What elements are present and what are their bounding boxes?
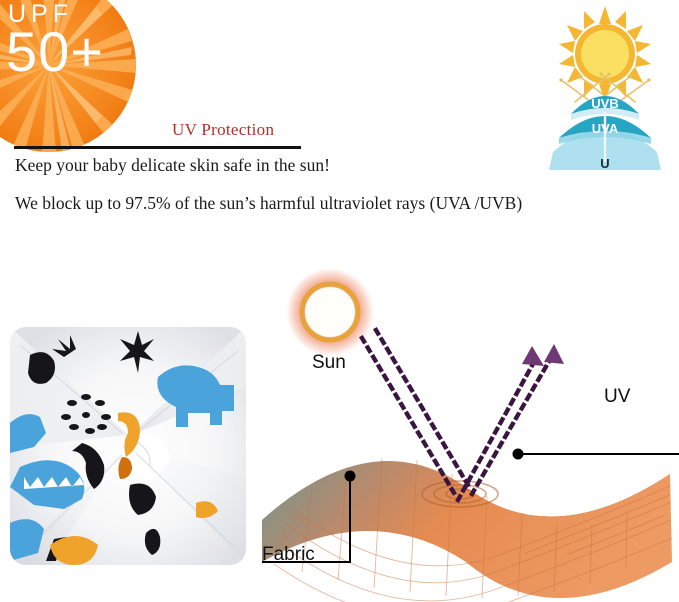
- upf-badge: UPF 50+: [0, 0, 136, 152]
- promo-banner: UPF 50+: [0, 0, 679, 602]
- fabric-photo: [10, 327, 246, 565]
- uv-anchor-dot: [513, 449, 524, 460]
- fabric-anchor-dot: [345, 471, 356, 482]
- uv-reflection-diagram: [252, 262, 679, 602]
- fabric-label: Fabric: [262, 544, 315, 566]
- page-title: UV Protection: [172, 120, 274, 140]
- upf-value: 50+: [6, 24, 104, 80]
- title-divider: [14, 146, 301, 149]
- sun-label: Sun: [312, 352, 346, 374]
- body-line-2: We block up to 97.5% of the sun’s harmfu…: [15, 193, 522, 214]
- uv-leader: [513, 449, 679, 460]
- sun-ring-icon: [286, 268, 374, 356]
- body-line-1: Keep your baby delicate skin safe in the…: [15, 155, 330, 176]
- uv-layer-3-label: U: [600, 156, 609, 170]
- uv-layers-figure: UVB UVA U: [531, 2, 679, 170]
- upf-badge-text: UPF 50+: [0, 0, 136, 152]
- uv-label: UV: [604, 386, 630, 408]
- uv-layer-2-label: UVA: [592, 121, 619, 136]
- reflected-uv-rays: [458, 358, 551, 500]
- fabric-swatch-image: [10, 327, 246, 565]
- uv-arrowhead-icon: [522, 344, 564, 366]
- uv-layer-1-label: UVB: [591, 96, 618, 111]
